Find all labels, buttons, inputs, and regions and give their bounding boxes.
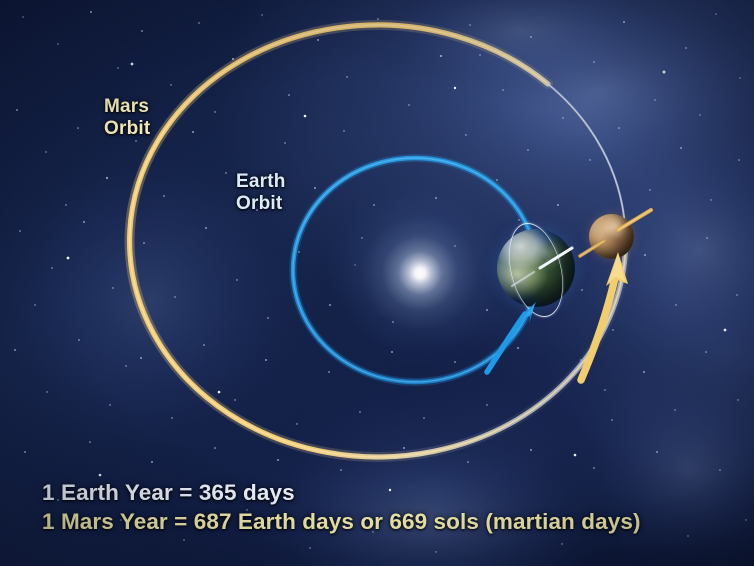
mars-orbit-label: Mars Orbit	[104, 96, 150, 140]
caption-block: 1 Earth Year = 365 days 1 Mars Year = 68…	[42, 478, 742, 536]
caption-mars-year: 1 Mars Year = 687 Earth days or 669 sols…	[42, 507, 742, 536]
earth-orbit-label: Earth Orbit	[236, 171, 286, 215]
caption-earth-year: 1 Earth Year = 365 days	[42, 478, 742, 507]
earth-orbit-ring-overlay	[500, 217, 572, 322]
orbit-diagram-canvas: Mars Orbit Earth Orbit 1 Earth Year = 36…	[0, 0, 754, 566]
mars-orbit-far-path	[548, 84, 625, 226]
mars-direction-arrow-icon	[581, 252, 628, 380]
mars-planet	[589, 214, 634, 259]
